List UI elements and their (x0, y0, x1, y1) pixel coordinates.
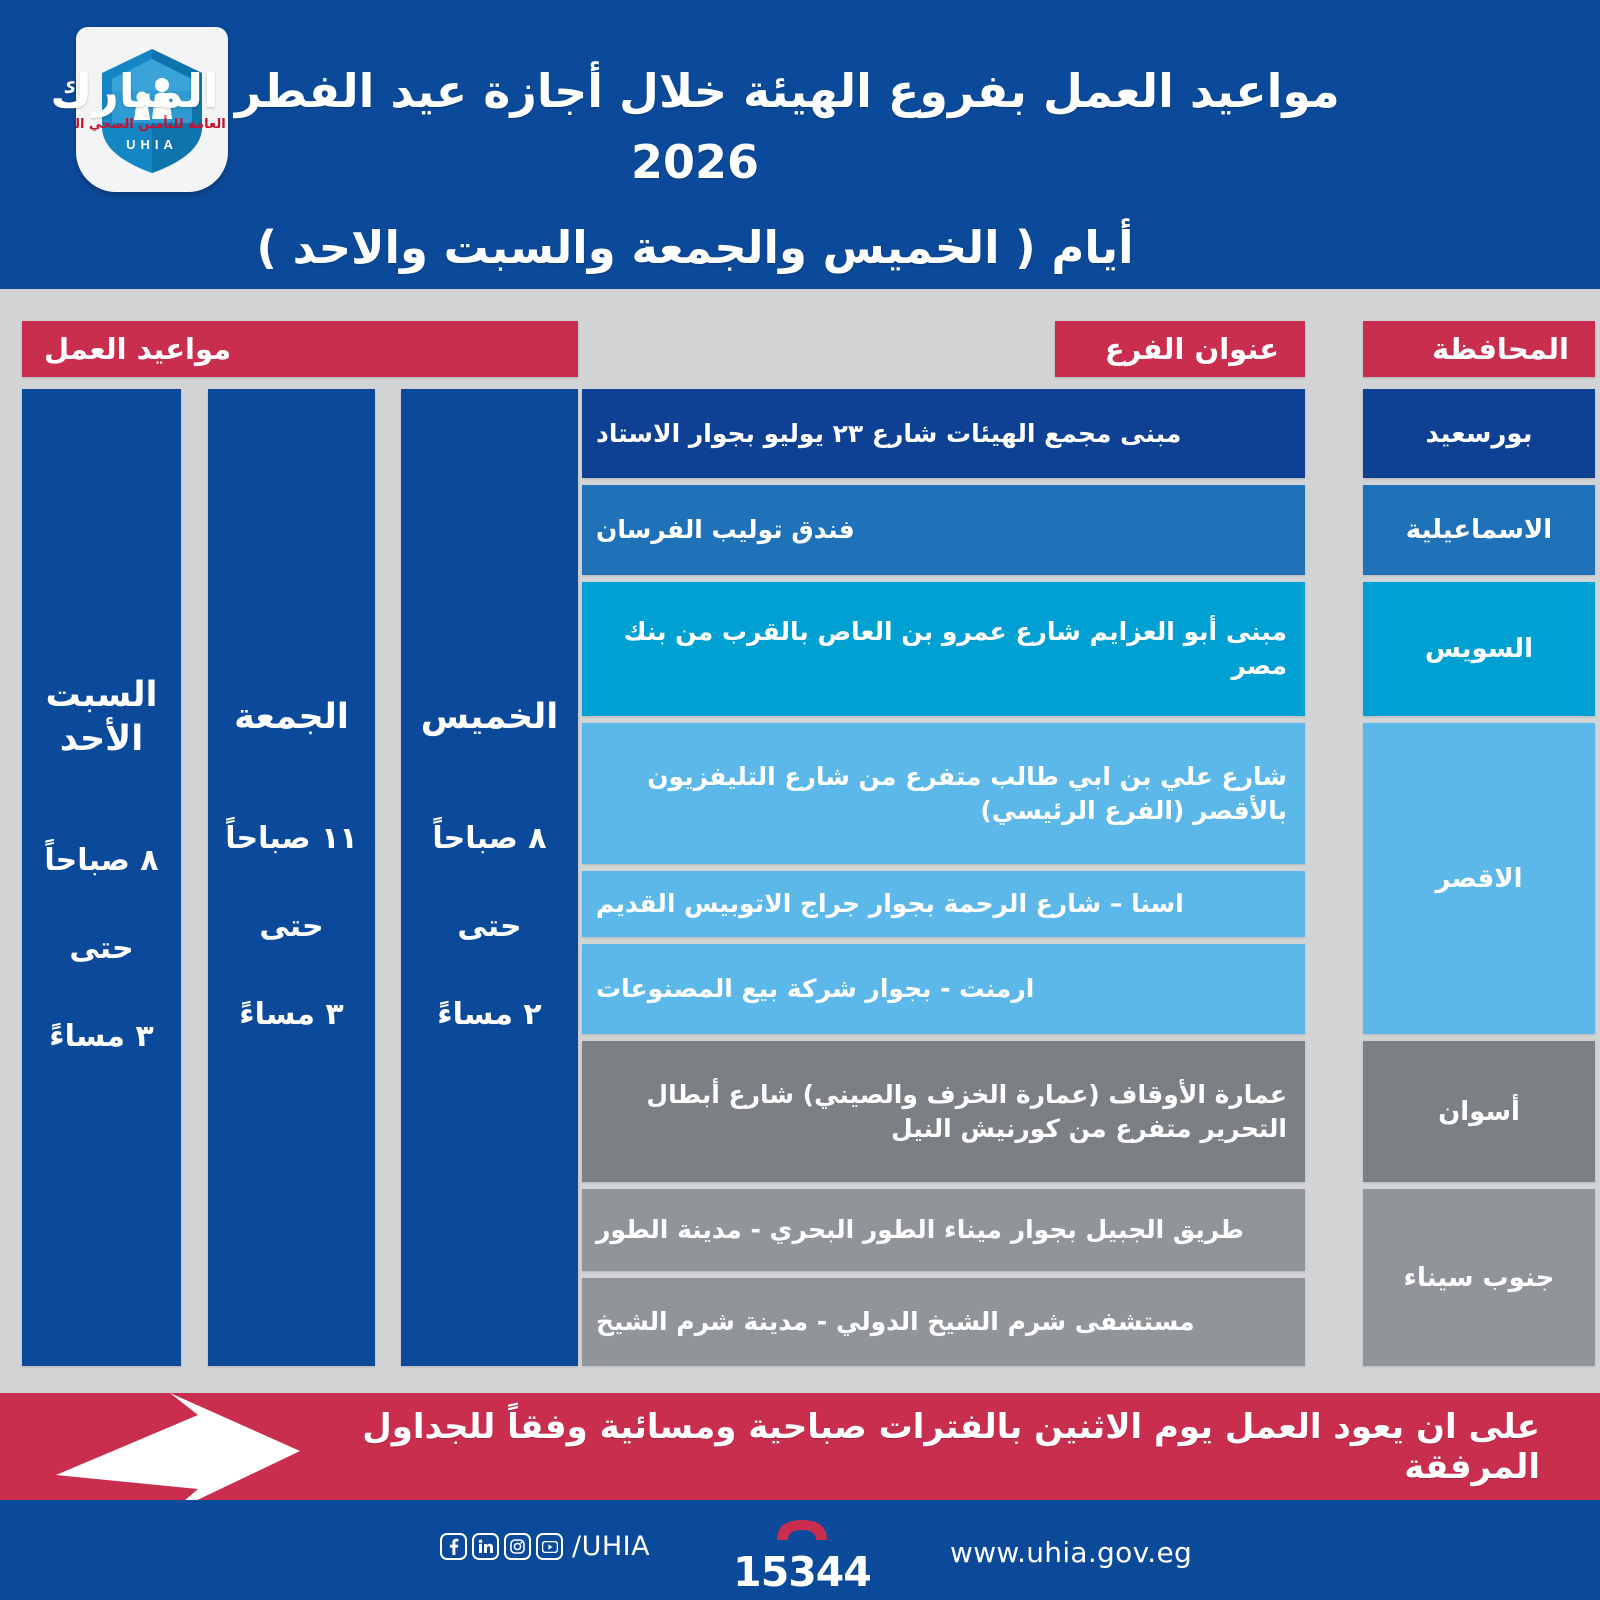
governorate-cell: الاسماعيلية (1363, 485, 1595, 575)
column-header-governorate: المحافظة (1363, 321, 1595, 377)
hotline: 15344 (732, 1518, 872, 1596)
close-time: ٣ مساءً (239, 997, 343, 1033)
until-label: حتى (69, 931, 133, 967)
infographic-page: الهيئة العامة للتأمين الصحي الشامل UHIA … (0, 0, 1600, 1600)
notice-banner: على ان يعود العمل يوم الاثنين بالفترات ص… (0, 1393, 1600, 1500)
social-links[interactable]: /UHIA (440, 1531, 650, 1562)
schedule-table: المحافظة عنوان الفرع مواعيد العمل بورسعي… (0, 289, 1600, 1393)
page-title: مواعيد العمل بفروع الهيئة خلال أجازة عيد… (40, 56, 1350, 282)
hotline-number: 15344 (732, 1548, 872, 1596)
close-time: ٣ مساءً (49, 1019, 153, 1055)
close-time: ٢ مساءً (437, 997, 541, 1033)
notice-banner-text: على ان يعود العمل يوم الاثنين بالفترات ص… (315, 1393, 1540, 1500)
open-time: ٨ صباحاً (44, 843, 158, 879)
governorate-cell: الاقصر (1363, 723, 1595, 1034)
branch-address-cell: مبنى مجمع الهيئات شارع ٢٣ يوليو بجوار ال… (582, 389, 1305, 478)
instagram-icon[interactable] (504, 1533, 531, 1560)
governorate-cell: السويس (1363, 582, 1595, 716)
governorate-cell: بورسعيد (1363, 389, 1595, 478)
social-handle-label: /UHIA (572, 1531, 650, 1562)
branch-address-cell: طريق الجبيل بجوار ميناء الطور البحري - م… (582, 1189, 1305, 1271)
working-hours-column-1: الخميس٨ صباحاًحتى٢ مساءً (401, 389, 578, 1366)
column-header-branch-address: عنوان الفرع (1055, 321, 1305, 377)
working-hours-column-3: السبتالأحد٨ صباحاًحتى٣ مساءً (22, 389, 181, 1366)
facebook-icon[interactable] (440, 1533, 467, 1560)
page-header: الهيئة العامة للتأمين الصحي الشامل UHIA … (0, 0, 1600, 289)
branch-address-cell: مبنى أبو العزايم شارع عمرو بن العاص بالق… (582, 582, 1305, 716)
branch-address-cell: شارع علي بن ابي طالب متفرع من شارع التلي… (582, 723, 1305, 864)
open-time: ٨ صباحاً (432, 821, 546, 857)
day-label: الخميس (421, 696, 559, 739)
governorate-cell: جنوب سيناء (1363, 1189, 1595, 1366)
until-label: حتى (457, 909, 521, 945)
working-hours-column-2: الجمعة١١ صباحاًحتى٣ مساءً (208, 389, 375, 1366)
branch-address-cell: فندق توليب الفرسان (582, 485, 1305, 575)
website-url: www.uhia.gov.eg (950, 1536, 1192, 1569)
page-footer: /UHIA 15344 www.uhia.gov.eg (0, 1500, 1600, 1600)
youtube-icon[interactable] (536, 1533, 563, 1560)
day-label: الجمعة (234, 696, 349, 739)
until-label: حتى (259, 909, 323, 945)
linkedin-icon[interactable] (472, 1533, 499, 1560)
branch-address-cell: عمارة الأوقاف (عمارة الخزف والصيني) شارع… (582, 1041, 1305, 1182)
column-header-working-hours: مواعيد العمل (22, 321, 578, 377)
open-time: ١١ صباحاً (225, 821, 357, 857)
title-line-2: أيام ( الخميس والجمعة والسبت والاحد ) (40, 213, 1350, 283)
branch-address-cell: ارمنت - بجوار شركة بيع المصنوعات (582, 944, 1305, 1034)
branch-address-cell: مستشفى شرم الشيخ الدولي - مدينة شرم الشي… (582, 1278, 1305, 1366)
working-hours-columns: الخميس٨ صباحاًحتى٢ مساءًالجمعة١١ صباحاًح… (22, 389, 578, 1366)
branch-address-cell: اسنا – شارع الرحمة بجوار جراج الاتوبيس ا… (582, 871, 1305, 937)
governorate-cell: أسوان (1363, 1041, 1595, 1182)
title-line-1: مواعيد العمل بفروع الهيئة خلال أجازة عيد… (40, 56, 1350, 199)
day-label: السبتالأحد (45, 674, 157, 761)
table-body: بورسعيدمبنى مجمع الهيئات شارع ٢٣ يوليو ب… (582, 389, 1595, 1366)
phone-icon (772, 1518, 832, 1544)
